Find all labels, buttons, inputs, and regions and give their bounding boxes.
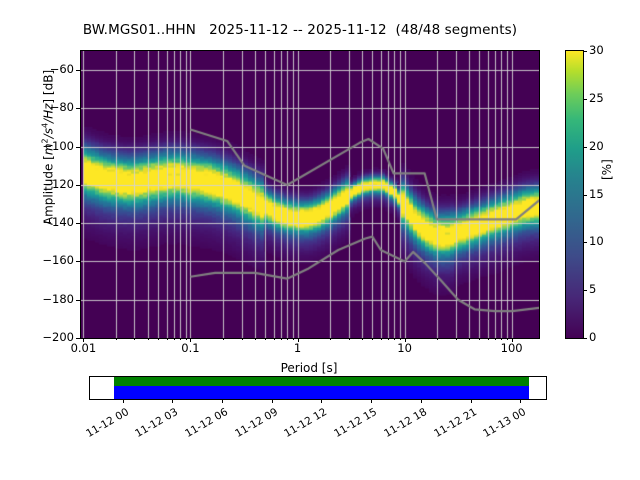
- x-tick-mark-minor: [456, 338, 457, 340]
- y-tick-mark: [76, 338, 80, 339]
- y-axis-label-sup2: 4: [41, 123, 50, 128]
- colorbar-tick-label: 15: [589, 189, 604, 201]
- y-tick-label: −160: [14, 255, 74, 267]
- x-tick-mark-minor: [134, 338, 135, 340]
- timeline-tick-label: 11-12 21: [422, 406, 478, 445]
- x-tick-mark-minor: [469, 338, 470, 340]
- colorbar-tick-mark: [583, 147, 587, 148]
- y-tick-mark: [76, 300, 80, 301]
- colorbar-tick-mark: [583, 99, 587, 100]
- x-tick-mark-minor: [362, 338, 363, 340]
- y-axis-label-s: /s: [42, 128, 56, 138]
- timeline-tick-mark: [172, 399, 173, 403]
- data-coverage-bar: [114, 377, 529, 386]
- y-tick-mark: [76, 261, 80, 262]
- timeline-tick-label: 11-12 06: [174, 406, 230, 445]
- timeline-tick-mark: [520, 399, 521, 403]
- x-tick-label: 0.1: [160, 341, 220, 355]
- colorbar-tick-mark: [583, 242, 587, 243]
- x-tick-label: 100: [482, 341, 542, 355]
- x-tick-mark-minor: [148, 338, 149, 340]
- x-tick-mark-minor: [381, 338, 382, 340]
- x-tick-mark-minor: [167, 338, 168, 340]
- x-tick-mark-minor: [507, 338, 508, 340]
- timeline-tick-mark: [321, 399, 322, 403]
- colorbar-tick-mark: [583, 338, 587, 339]
- timeline-tick-mark: [421, 399, 422, 403]
- timeline-tick-label: 11-12 03: [124, 406, 180, 445]
- x-tick-mark-minor: [180, 338, 181, 340]
- coverage-timeline[interactable]: [89, 376, 547, 400]
- colorbar: [565, 50, 584, 339]
- colorbar-tick-label: 20: [589, 141, 604, 153]
- x-tick-mark-minor: [400, 338, 401, 340]
- y-tick-label: −180: [14, 294, 74, 306]
- colorbar-tick-label: 0: [589, 332, 596, 344]
- x-tick-mark-minor: [388, 338, 389, 340]
- colorbar-tick-label: 25: [589, 93, 604, 105]
- timeline-tick-mark: [123, 399, 124, 403]
- x-tick-mark-minor: [281, 338, 282, 340]
- colorbar-unit-label: [%]: [600, 159, 614, 180]
- y-tick-label: −60: [14, 64, 74, 76]
- ppsd-plot-area[interactable]: [80, 50, 540, 339]
- x-tick-mark-minor: [287, 338, 288, 340]
- x-tick-mark-minor: [293, 338, 294, 340]
- x-tick-mark-minor: [116, 338, 117, 340]
- timeline-tick-label: 11-13 00: [472, 406, 528, 445]
- x-axis-label: Period [s]: [80, 361, 538, 375]
- x-tick-label: 0.01: [53, 341, 113, 355]
- x-tick-mark-minor: [372, 338, 373, 340]
- timeline-tick-mark: [471, 399, 472, 403]
- ppsd-figure: BW.MGS01..HHN 2025-11-12 -- 2025-11-12 (…: [0, 0, 640, 480]
- x-tick-mark-minor: [437, 338, 438, 340]
- x-tick-mark-minor: [223, 338, 224, 340]
- y-tick-label: −80: [14, 102, 74, 114]
- y-tick-label: −140: [14, 217, 74, 229]
- colorbar-tick-mark: [583, 51, 587, 52]
- timeline-tick-label: 11-12 00: [74, 406, 130, 445]
- y-tick-label: −100: [14, 141, 74, 153]
- x-tick-label: 1: [268, 341, 328, 355]
- colorbar-tick-label: 10: [589, 236, 604, 248]
- x-tick-mark-minor: [255, 338, 256, 340]
- x-tick-mark-minor: [186, 338, 187, 340]
- y-tick-mark: [76, 70, 80, 71]
- timeline-tick-label: 11-12 12: [273, 406, 329, 445]
- x-tick-mark-minor: [242, 338, 243, 340]
- x-tick-mark-minor: [330, 338, 331, 340]
- x-tick-mark-minor: [349, 338, 350, 340]
- x-tick-mark-minor: [274, 338, 275, 340]
- y-tick-mark: [76, 223, 80, 224]
- x-tick-mark-minor: [488, 338, 489, 340]
- y-tick-mark: [76, 147, 80, 148]
- timeline-tick-label: 11-12 09: [223, 406, 279, 445]
- timeline-tick-mark: [222, 399, 223, 403]
- x-tick-mark-minor: [394, 338, 395, 340]
- x-tick-mark-minor: [158, 338, 159, 340]
- colorbar-tick-mark: [583, 290, 587, 291]
- colorbar-tick-label: 5: [589, 284, 596, 296]
- y-tick-mark: [76, 185, 80, 186]
- timeline-tick-mark: [272, 399, 273, 403]
- x-tick-mark-minor: [265, 338, 266, 340]
- timeline-tick-label: 11-12 18: [373, 406, 429, 445]
- timeline-tick-label: 11-12 15: [323, 406, 379, 445]
- time-coverage-bar: [114, 386, 529, 399]
- y-tick-label: −120: [14, 179, 74, 191]
- timeline-tick-mark: [371, 399, 372, 403]
- ppsd-density-canvas: [81, 51, 539, 338]
- y-tick-mark: [76, 108, 80, 109]
- x-tick-mark-minor: [495, 338, 496, 340]
- x-tick-label: 10: [375, 341, 435, 355]
- page-title: BW.MGS01..HHN 2025-11-12 -- 2025-11-12 (…: [0, 22, 600, 38]
- x-tick-mark-minor: [479, 338, 480, 340]
- colorbar-tick-label: 30: [589, 45, 604, 57]
- x-tick-mark-minor: [501, 338, 502, 340]
- colorbar-tick-mark: [583, 195, 587, 196]
- x-tick-mark-minor: [174, 338, 175, 340]
